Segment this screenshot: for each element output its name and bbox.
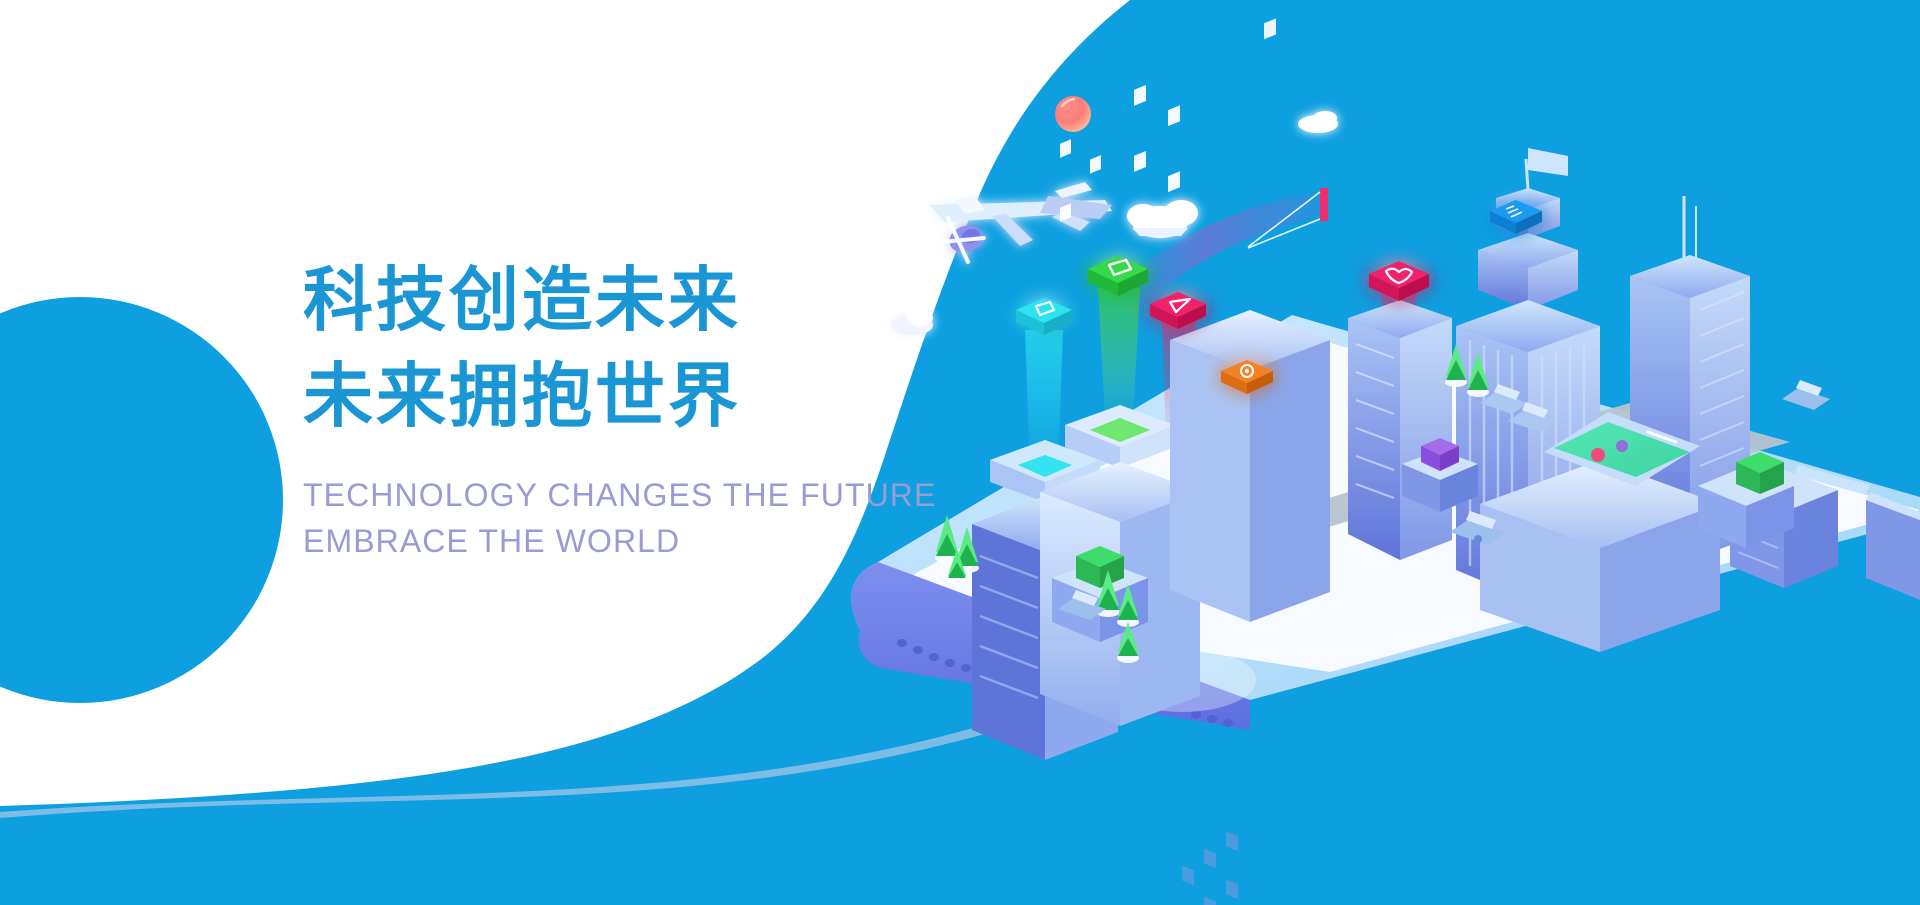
headline-line-2: 未来拥抱世界 xyxy=(303,348,923,444)
hero-copy: 科技创造未来 未来拥抱世界 TECHNOLOGY CHANGES THE FUT… xyxy=(303,252,923,564)
flag-pink-icon xyxy=(1320,188,1328,221)
car-icon xyxy=(1782,380,1830,410)
hero-banner: 科技创造未来 未来拥抱世界 TECHNOLOGY CHANGES THE FUT… xyxy=(0,0,1920,905)
headline-line-1: 科技创造未来 xyxy=(303,252,923,348)
subtitle-line-2: EMBRACE THE WORLD xyxy=(303,518,923,564)
badge-cyan-icon xyxy=(1016,298,1072,335)
cloud-tiny-icon xyxy=(1298,111,1338,133)
isometric-city-illustration xyxy=(0,0,1920,905)
airplane-icon xyxy=(930,182,1112,262)
cloud-large-icon xyxy=(1127,200,1198,238)
hero-subtitle: TECHNOLOGY CHANGES THE FUTURE EMBRACE TH… xyxy=(303,472,923,564)
badge-pink-right-icon xyxy=(1369,261,1429,301)
tower-flag-icon xyxy=(1528,148,1568,176)
buildings xyxy=(972,0,1920,905)
beam-green xyxy=(1098,288,1140,420)
sphere-pink-icon xyxy=(1055,96,1091,132)
building-grid-tower xyxy=(1170,0,1330,905)
badge-pink-icon xyxy=(1150,292,1206,329)
subtitle-line-1: TECHNOLOGY CHANGES THE FUTURE xyxy=(303,472,923,518)
